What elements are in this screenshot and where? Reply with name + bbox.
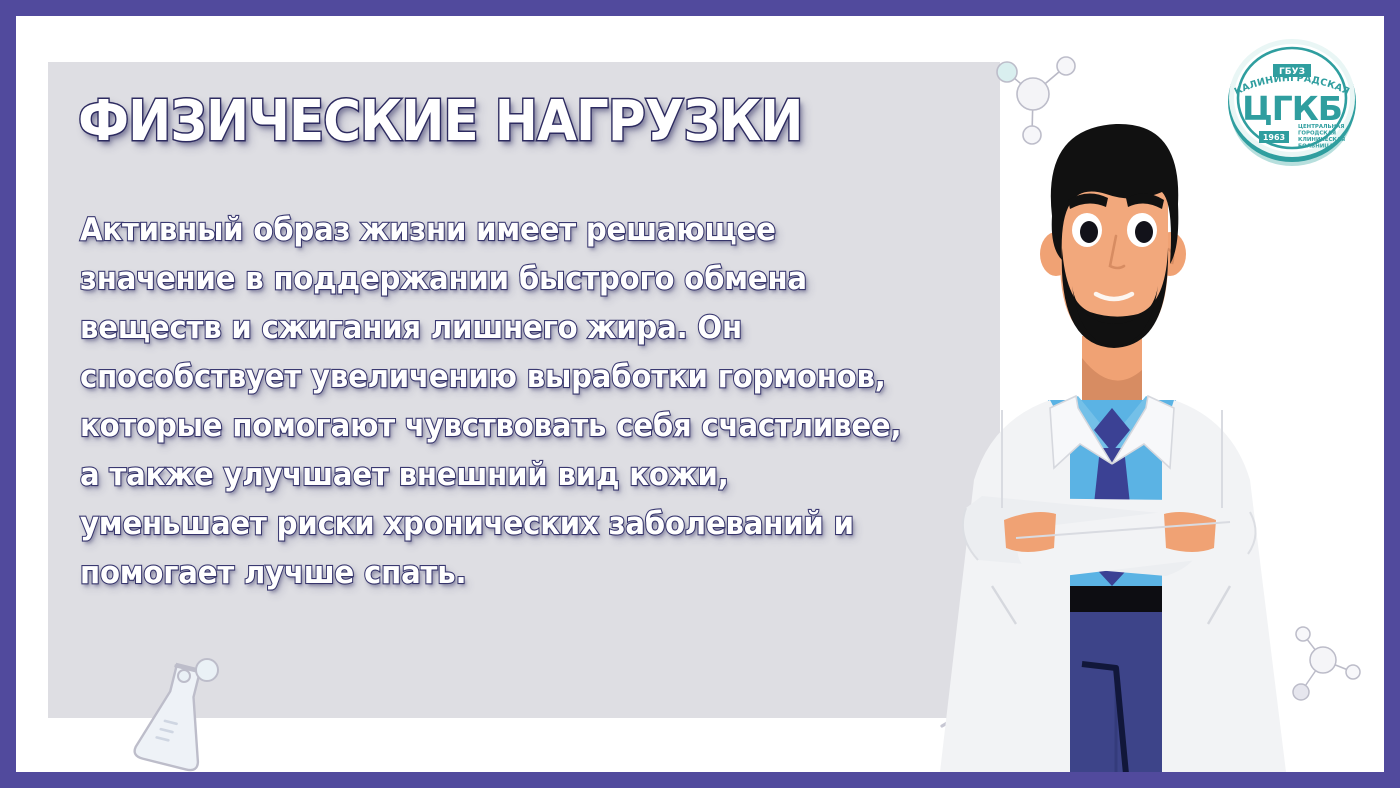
page-title: ФИЗИЧЕСКИЕ НАГРУЗКИ — [78, 92, 803, 152]
logo-fullname-line-2: ГОРОДСКАЯ — [1298, 131, 1336, 137]
logo-fullname-line-1: ЦЕНТРАЛЬНАЯ — [1298, 124, 1344, 130]
logo-year: 1963 — [1263, 133, 1285, 142]
body-paragraph: Активный образ жизни имеет решающее знач… — [80, 206, 935, 598]
body-line: веществ и сжигания лишнего жира. Он — [80, 304, 935, 353]
logo-fullname-line-4: БОЛЬНИЦА — [1298, 144, 1334, 150]
frame-border-left — [0, 0, 16, 788]
body-line: способствует увеличению выработки гормон… — [80, 353, 935, 402]
slide-root: ФИЗИЧЕСКИЕ НАГРУЗКИ Активный образ жизни… — [0, 0, 1400, 788]
logo-fullname-line-3: КЛИНИЧЕСКАЯ — [1298, 137, 1345, 143]
body-line: значение в поддержании быстрого обмена — [80, 255, 935, 304]
body-line: а также улучшает внешний вид кожи, — [80, 451, 935, 500]
body-line: Активный образ жизни имеет решающее — [80, 206, 935, 255]
body-line: уменьшает риски хронических заболеваний … — [80, 500, 935, 549]
cgkb-hospital-logo: ГБУЗ КАЛИНИНГРАДСКАЯ ЦГКБ 1963 ЦЕНТРАЛЬН… — [1222, 28, 1362, 170]
body-line: помогает лучше спать. — [80, 549, 935, 598]
body-line: которые помогают чувствовать себя счастл… — [80, 402, 935, 451]
frame-border-top — [0, 0, 1400, 16]
flask-icon — [118, 648, 238, 780]
doctor-illustration — [930, 108, 1350, 772]
logo-abbreviation: ЦГКБ — [1242, 89, 1342, 128]
frame-border-right — [1384, 0, 1400, 788]
frame-border-bottom — [0, 772, 1400, 788]
